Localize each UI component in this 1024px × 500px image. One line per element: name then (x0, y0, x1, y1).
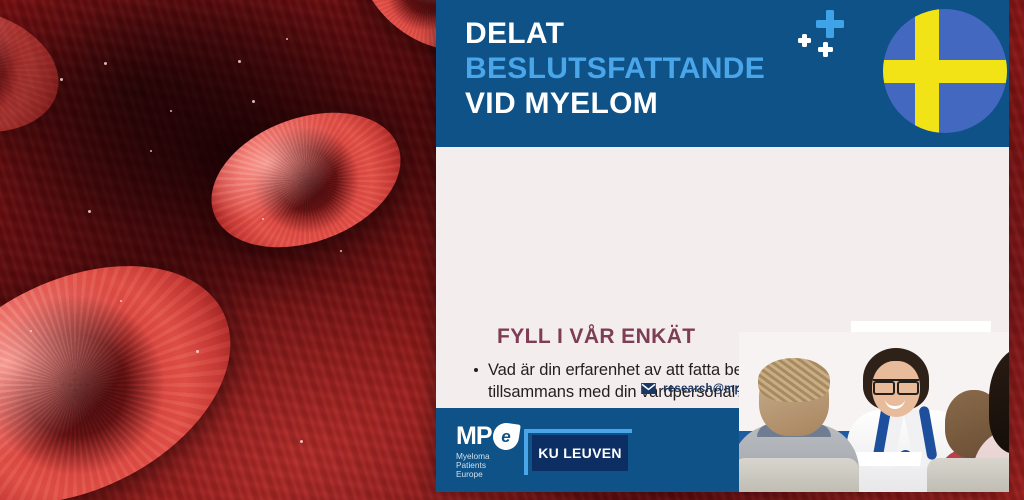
speck (286, 38, 288, 40)
speck (60, 78, 63, 81)
title-line-3: VID MYELOM (465, 86, 765, 121)
mpe-droplet-icon: e (491, 421, 521, 451)
poster-canvas: DELAT BESLUTSFATTANDE VID MYELOM FYLL I … (0, 0, 1024, 500)
mpe-droplet-letter: e (493, 423, 519, 450)
mpe-logo-mark: MP (456, 424, 492, 449)
speck (196, 350, 199, 353)
ku-leuven-logo: KU LEUVEN (524, 429, 628, 471)
speck (252, 100, 255, 103)
ku-leuven-text: KU LEUVEN (538, 445, 622, 461)
poster-card: DELAT BESLUTSFATTANDE VID MYELOM FYLL I … (436, 0, 1009, 492)
speck (340, 250, 342, 252)
speck (238, 60, 241, 63)
photo-chair (739, 458, 859, 492)
survey-heading: FYLL I VÅR ENKÄT (497, 325, 696, 349)
poster-title: DELAT BESLUTSFATTANDE VID MYELOM (465, 16, 765, 121)
flag-vertical-bar (915, 9, 939, 133)
speck (120, 300, 122, 302)
sweden-flag-icon (883, 9, 1007, 133)
photo-chair (927, 458, 1009, 492)
consultation-photo (739, 332, 1009, 492)
poster-footer: MP e Myeloma Patients Europe KU LEUVEN (436, 408, 739, 492)
flag-horizontal-bar (883, 60, 1007, 84)
decorative-crosses (794, 8, 864, 64)
plus-cross-small-2-icon (818, 42, 833, 57)
poster-header: DELAT BESLUTSFATTANDE VID MYELOM (436, 0, 1009, 147)
plus-cross-small-1-icon (798, 34, 811, 47)
title-line-1: DELAT (465, 16, 765, 51)
plus-cross-large-icon (816, 10, 844, 38)
speck (88, 210, 91, 213)
ku-leuven-box: KU LEUVEN (532, 435, 628, 471)
speck (30, 330, 32, 332)
speck (170, 110, 172, 112)
speck (262, 218, 264, 220)
speck (150, 150, 152, 152)
speck (104, 62, 107, 65)
envelope-icon (641, 383, 656, 394)
glasses-icon (873, 379, 919, 391)
title-line-2: BESLUTSFATTANDE (465, 51, 765, 86)
speck (300, 440, 303, 443)
